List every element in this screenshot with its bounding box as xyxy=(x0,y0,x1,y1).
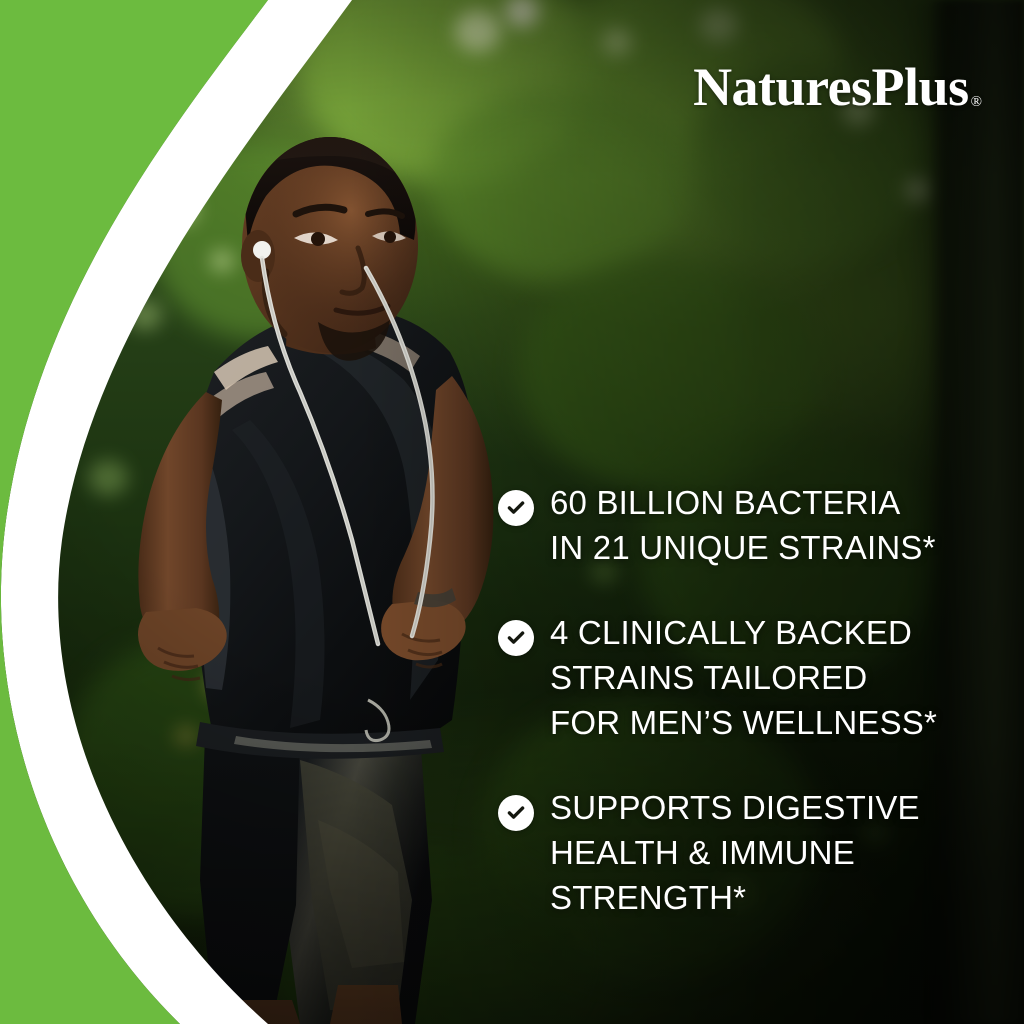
list-item: SUPPORTS DIGESTIVE HEALTH & IMMUNE STREN… xyxy=(498,785,998,920)
benefit-text: SUPPORTS DIGESTIVE HEALTH & IMMUNE STREN… xyxy=(550,785,998,920)
promo-image: NaturesPlus ® 60 BILLION BACTERIA IN 21 … xyxy=(0,0,1024,1024)
list-item: 60 BILLION BACTERIA IN 21 UNIQUE STRAINS… xyxy=(498,480,998,570)
registered-trademark-icon: ® xyxy=(971,95,982,110)
check-circle-icon xyxy=(498,620,534,656)
benefit-text: 4 CLINICALLY BACKED STRAINS TAILORED FOR… xyxy=(550,610,998,745)
check-circle-icon xyxy=(498,490,534,526)
brand-logo: NaturesPlus ® xyxy=(630,48,982,114)
benefit-list: 60 BILLION BACTERIA IN 21 UNIQUE STRAINS… xyxy=(498,480,998,920)
list-item: 4 CLINICALLY BACKED STRAINS TAILORED FOR… xyxy=(498,610,998,745)
benefit-text: 60 BILLION BACTERIA IN 21 UNIQUE STRAINS… xyxy=(550,480,998,570)
check-circle-icon xyxy=(498,795,534,831)
brand-logo-text: NaturesPlus xyxy=(693,60,969,114)
